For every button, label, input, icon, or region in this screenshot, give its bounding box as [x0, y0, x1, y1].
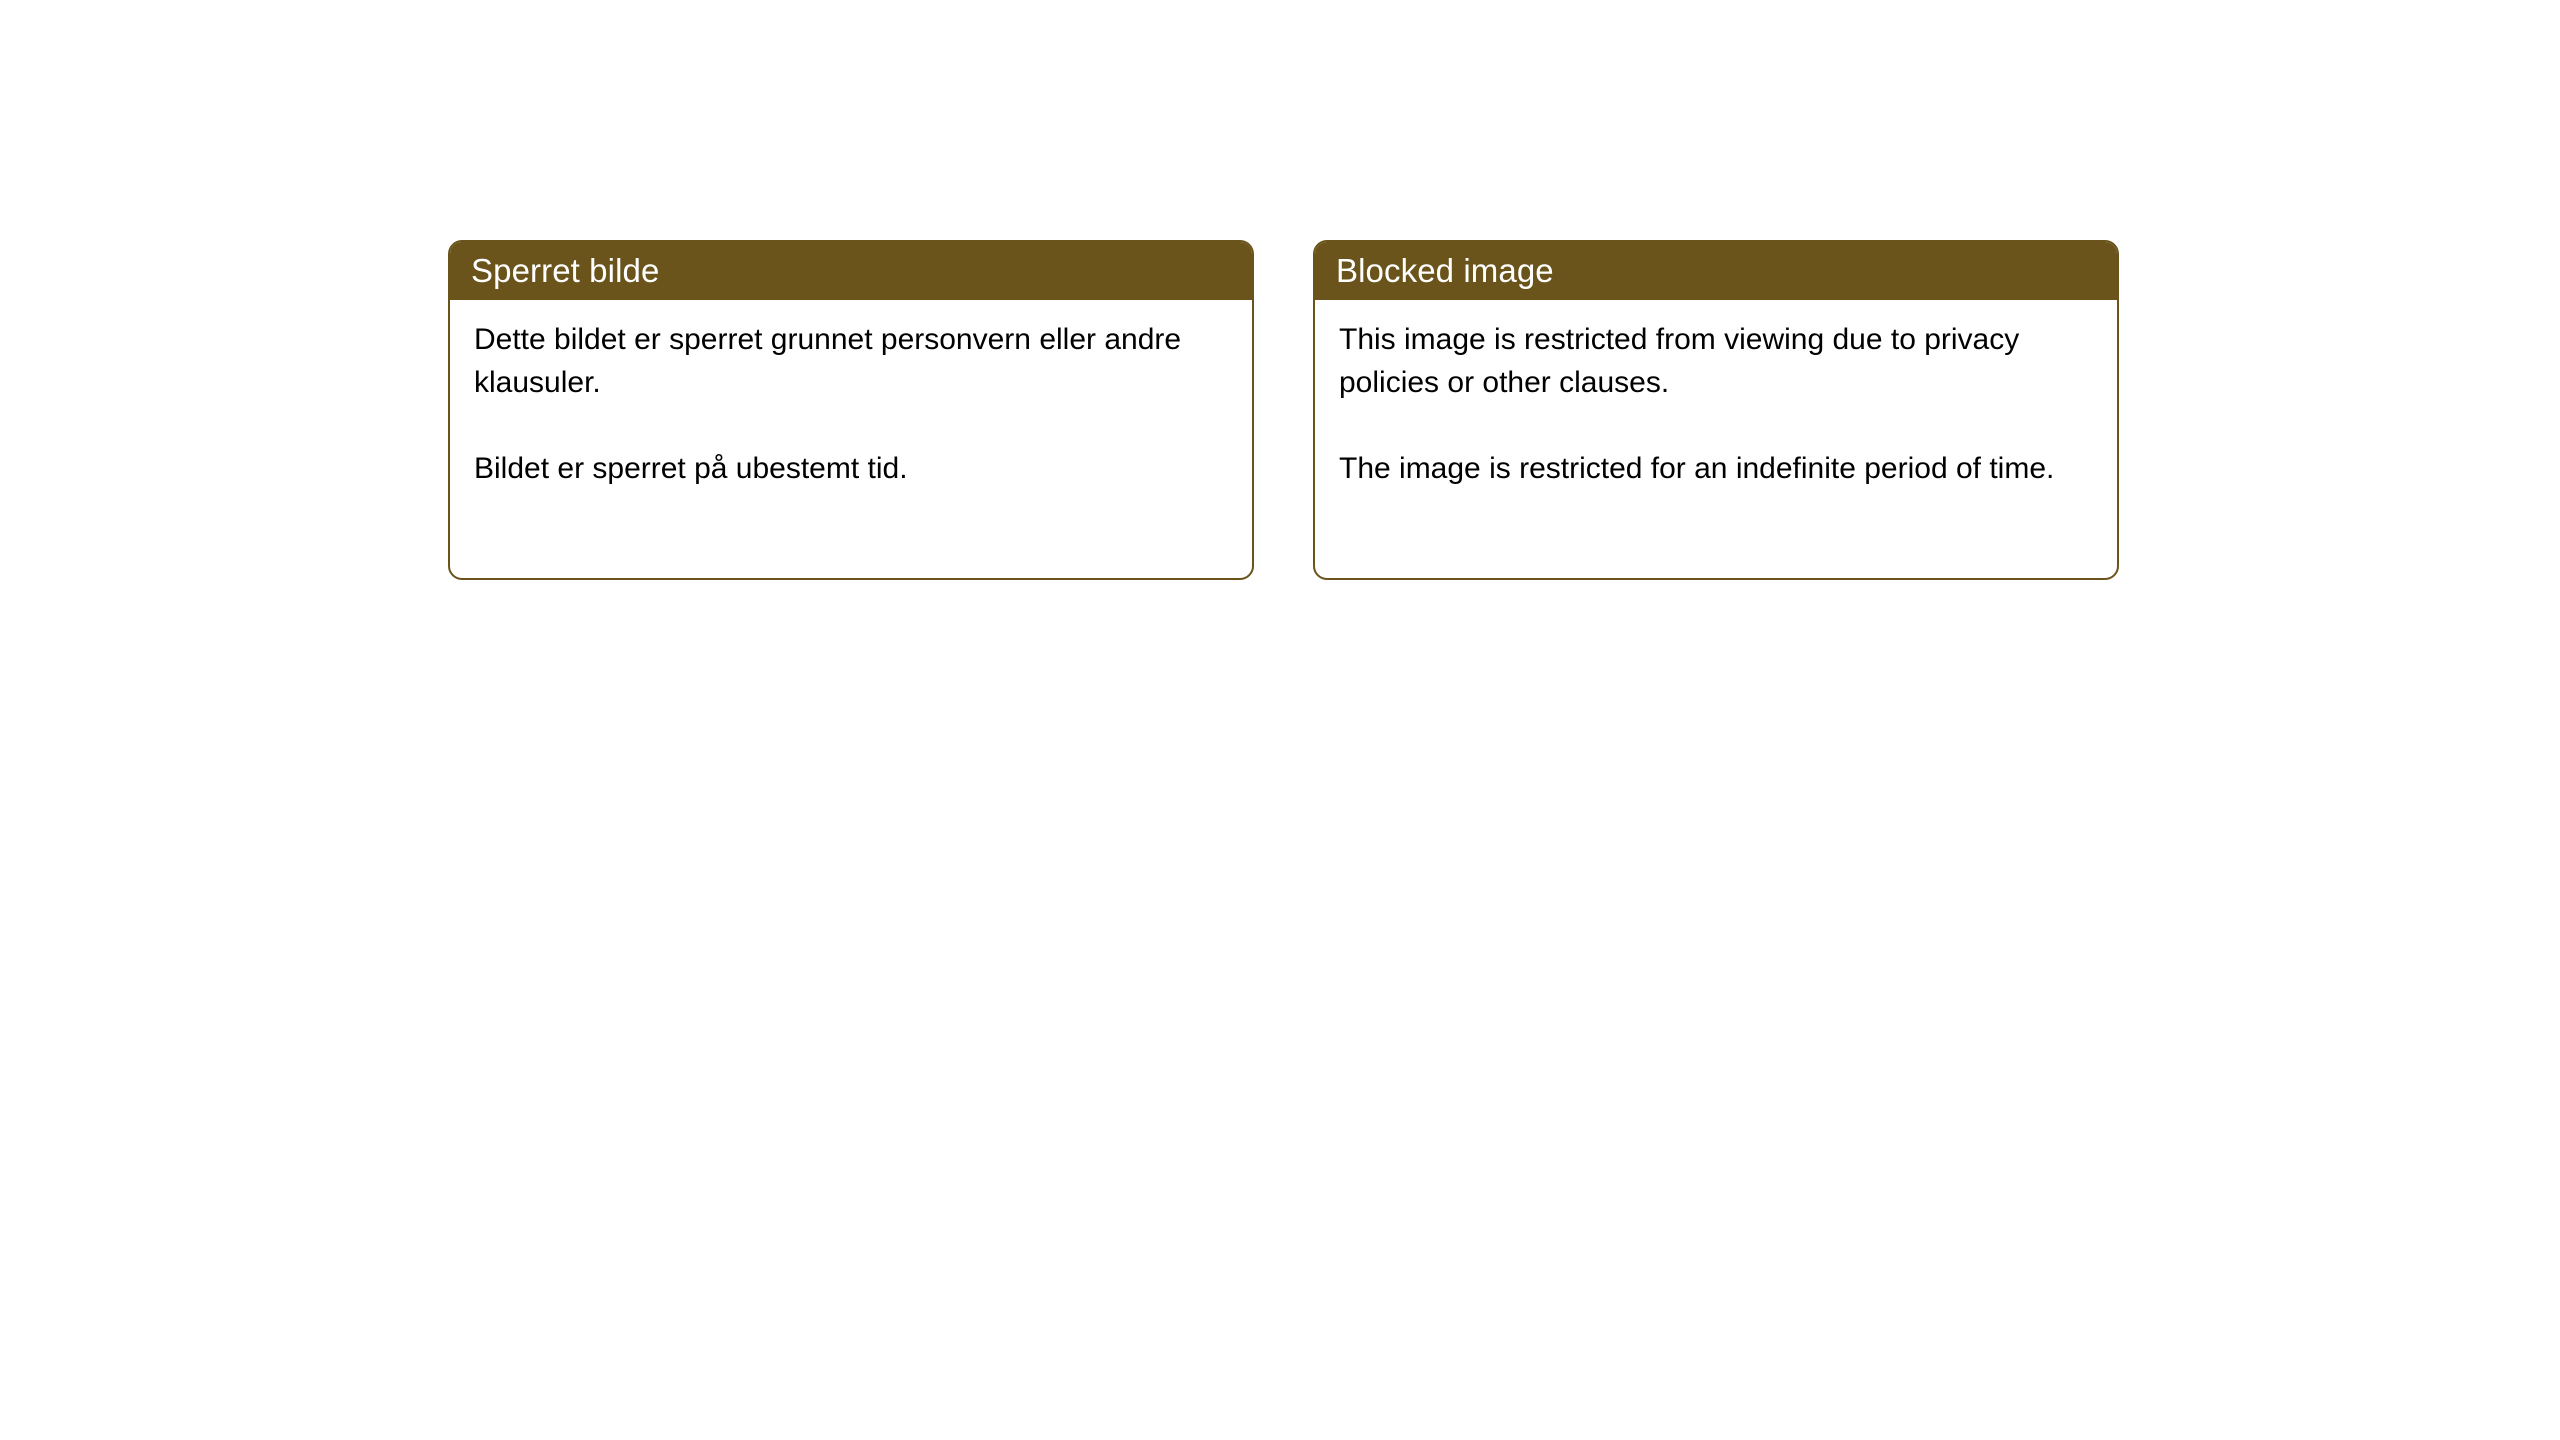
notice-card-header: Blocked image — [1314, 241, 2118, 300]
notice-card-title: Sperret bilde — [471, 254, 659, 287]
notice-paragraph-duration: The image is restricted for an indefinit… — [1339, 447, 2079, 490]
notice-paragraph-duration: Bildet er sperret på ubestemt tid. — [474, 447, 1214, 490]
blocked-image-notice-card-norwegian: Sperret bilde Dette bildet er sperret gr… — [448, 240, 1254, 580]
notice-paragraph-reason: Dette bildet er sperret grunnet personve… — [474, 318, 1214, 404]
blocked-image-notice-card-english: Blocked image This image is restricted f… — [1313, 240, 2119, 580]
page-root: Sperret bilde Dette bildet er sperret gr… — [0, 0, 2560, 1440]
notice-card-header: Sperret bilde — [449, 241, 1253, 300]
notice-paragraph-reason: This image is restricted from viewing du… — [1339, 318, 2079, 404]
notice-card-title: Blocked image — [1336, 254, 1554, 287]
notice-card-body: Dette bildet er sperret grunnet personve… — [450, 300, 1252, 490]
notice-card-body: This image is restricted from viewing du… — [1315, 300, 2117, 490]
